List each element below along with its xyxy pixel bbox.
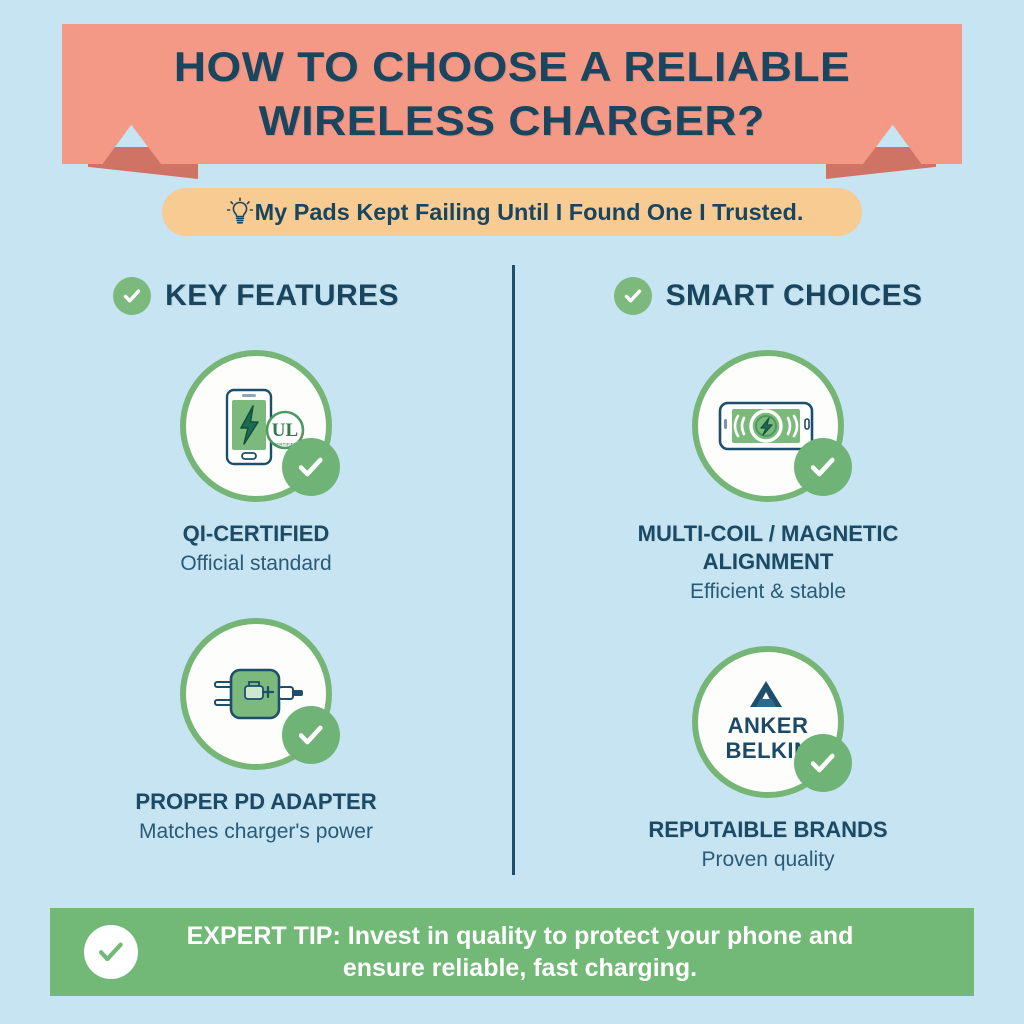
check-circle-icon bbox=[84, 925, 138, 979]
content-columns: KEY FEATURES UL bbox=[0, 270, 1024, 872]
column-title: KEY FEATURES bbox=[165, 279, 399, 313]
card-subtitle: Official standard bbox=[180, 552, 331, 576]
check-circle-icon bbox=[614, 277, 652, 315]
icon-circle-qi-certified: UL CERTIFIED bbox=[180, 350, 332, 502]
icon-circle-brands: ANKER BELKIN bbox=[692, 646, 844, 798]
card-title: MULTI-COIL / MAGNETIC ALIGNMENT bbox=[578, 520, 958, 576]
brand-name-anker: ANKER bbox=[728, 714, 809, 739]
brand-mark-icon bbox=[740, 677, 796, 713]
card-subtitle: Matches charger's power bbox=[139, 820, 373, 844]
card-title: REPUTAIBLE BRANDS bbox=[648, 816, 887, 844]
icon-circle-multi-coil bbox=[692, 350, 844, 502]
page-title-line-1: HOW TO CHOOSE A RELIABLE bbox=[174, 41, 850, 94]
card-subtitle: Proven quality bbox=[701, 848, 834, 872]
card-multi-coil: MULTI-COIL / MAGNETIC ALIGNMENT Efficien… bbox=[538, 350, 998, 604]
svg-text:UL: UL bbox=[272, 420, 298, 441]
header-title-group: HOW TO CHOOSE A RELIABLE WIRELESS CHARGE… bbox=[62, 24, 962, 164]
icon-circle-pd-adapter bbox=[180, 618, 332, 770]
check-circle-icon bbox=[113, 277, 151, 315]
column-key-features: KEY FEATURES UL bbox=[0, 270, 512, 872]
card-pd-adapter: PROPER PD ADAPTER Matches charger's powe… bbox=[26, 618, 486, 844]
card-title: PROPER PD ADAPTER bbox=[135, 788, 376, 816]
expert-tip-text: EXPERT TIP: Invest in quality to protect… bbox=[160, 920, 940, 984]
lightbulb-icon bbox=[226, 197, 254, 227]
subtitle-text: My Pads Kept Failing Until I Found One I… bbox=[255, 199, 804, 226]
page-title-line-2: WIRELESS CHARGER? bbox=[259, 95, 765, 148]
check-icon bbox=[794, 438, 852, 496]
check-icon bbox=[794, 734, 852, 792]
expert-tip-banner: EXPERT TIP: Invest in quality to protect… bbox=[50, 908, 974, 996]
card-subtitle: Efficient & stable bbox=[690, 580, 846, 604]
column-smart-choices: SMART CHOICES bbox=[512, 270, 1024, 872]
column-header-key-features: KEY FEATURES bbox=[113, 270, 399, 322]
check-icon bbox=[282, 438, 340, 496]
card-reputable-brands: ANKER BELKIN REPUTAIBLE BRANDS Proven qu… bbox=[538, 646, 998, 872]
expert-tip-line-2: ensure reliable, fast charging. bbox=[343, 954, 697, 982]
expert-tip-line-1: EXPERT TIP: Invest in quality to protect… bbox=[187, 922, 854, 950]
subtitle-pill: My Pads Kept Failing Until I Found One I… bbox=[162, 188, 862, 236]
card-qi-certified: UL CERTIFIED QI-CERTIFIED Official stand… bbox=[26, 350, 486, 576]
header-banner: HOW TO CHOOSE A RELIABLE WIRELESS CHARGE… bbox=[0, 0, 1024, 190]
column-title: SMART CHOICES bbox=[666, 279, 923, 313]
card-title: QI-CERTIFIED bbox=[183, 520, 330, 548]
column-header-smart-choices: SMART CHOICES bbox=[614, 270, 923, 322]
check-icon bbox=[282, 706, 340, 764]
